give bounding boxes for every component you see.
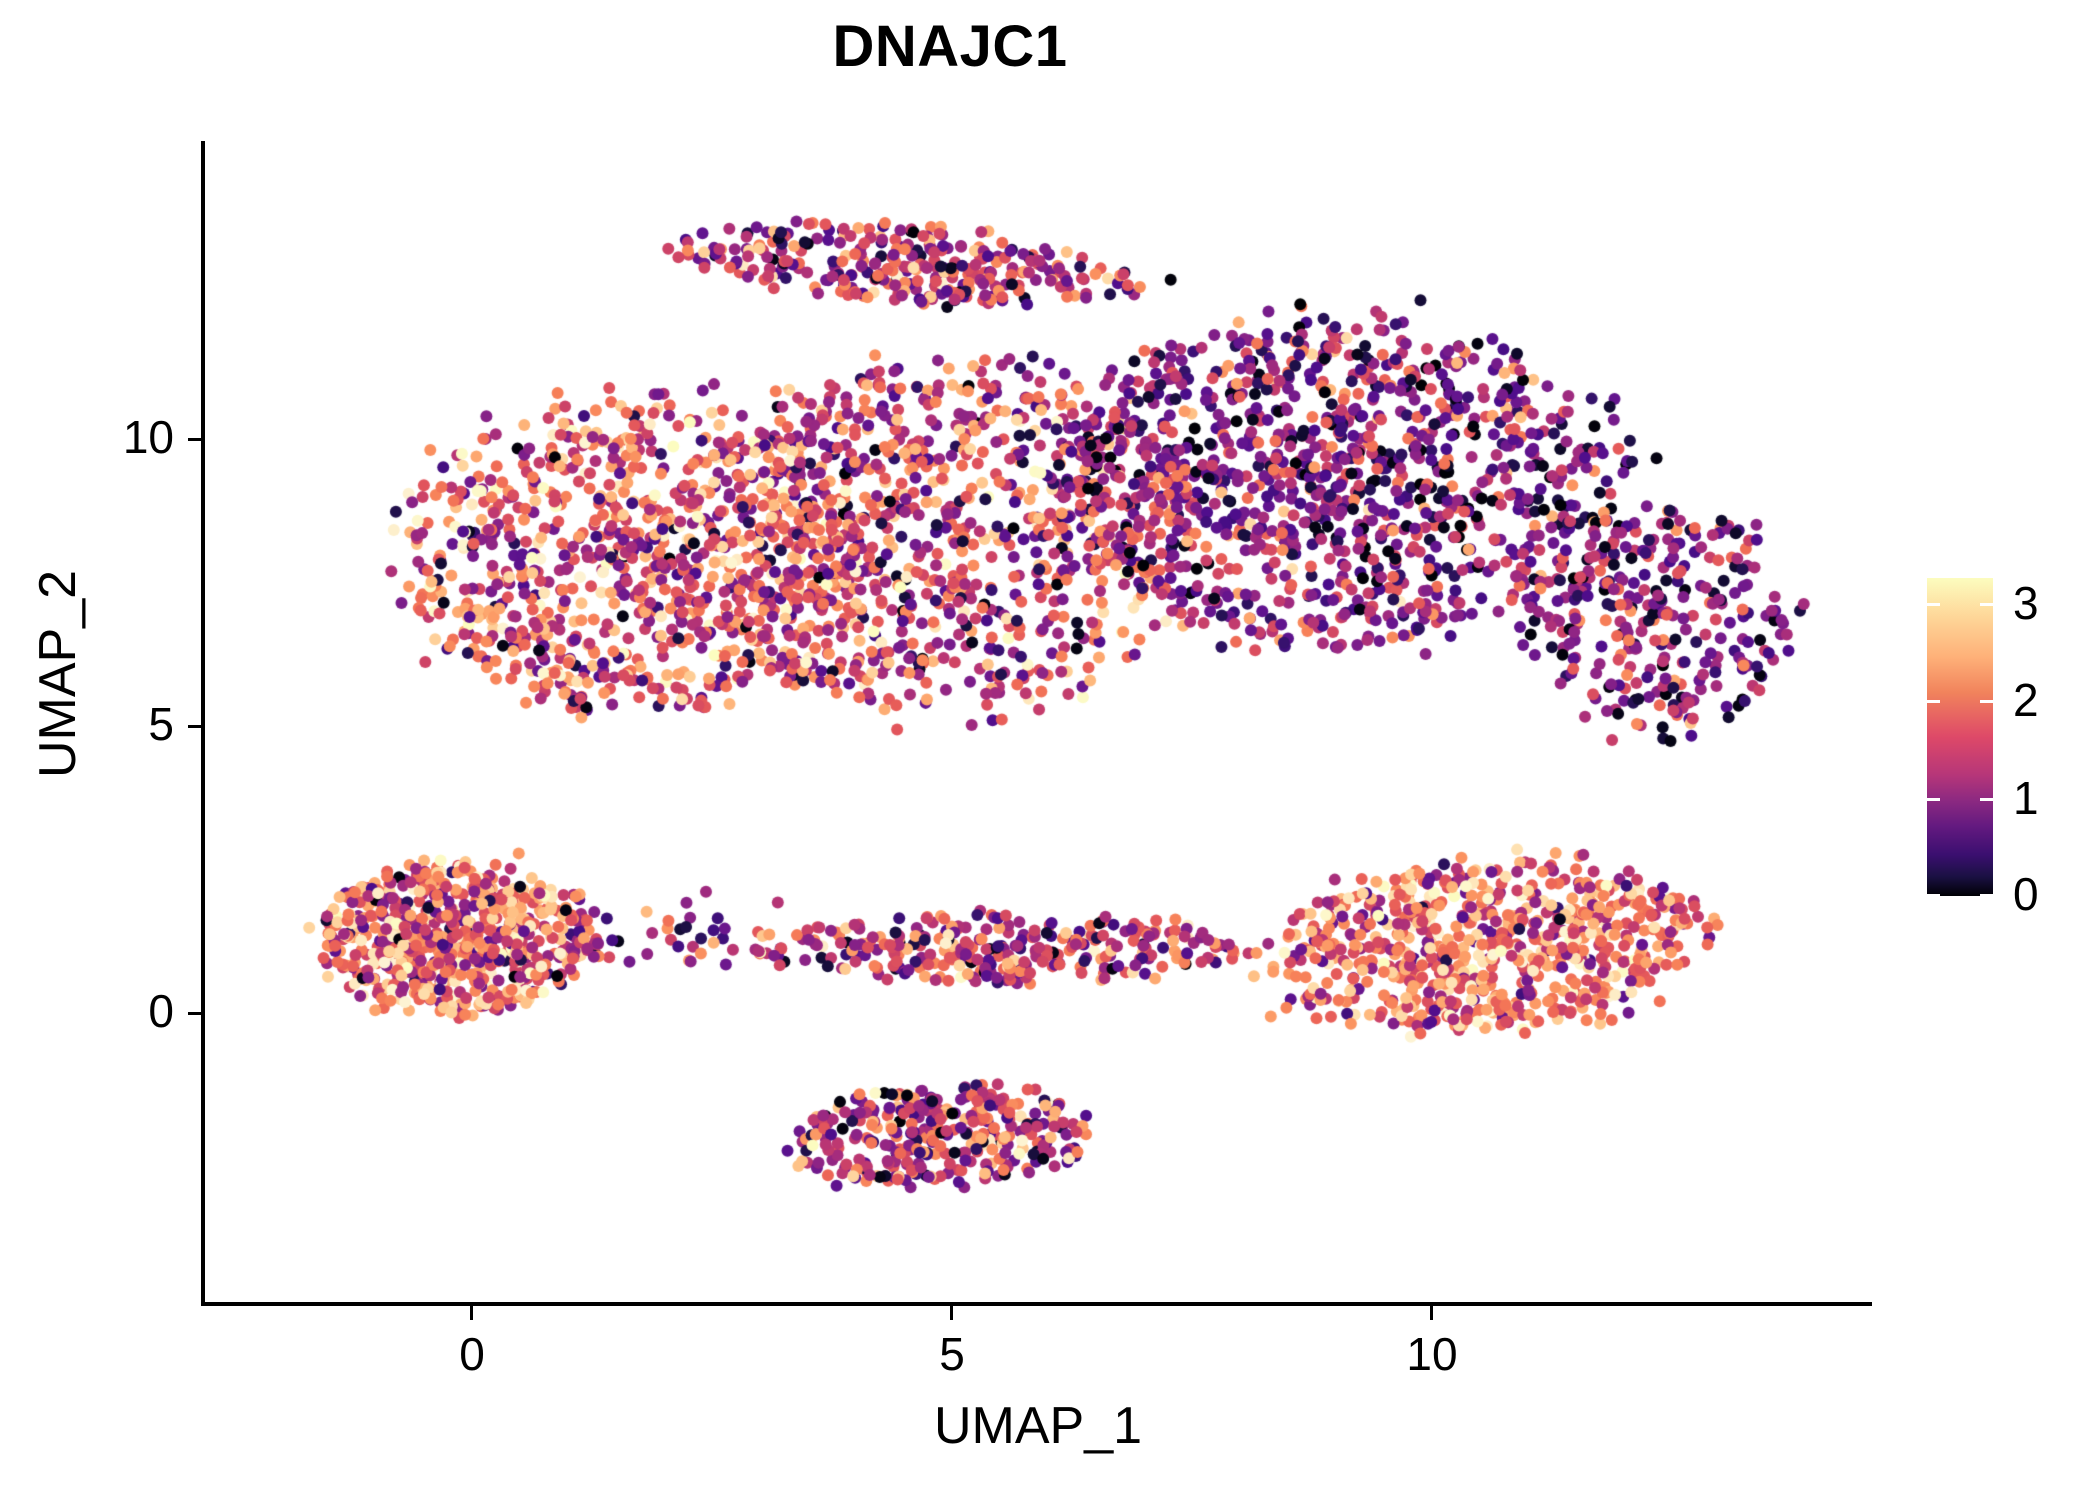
y-tick-mark-5 (188, 725, 202, 728)
y-tick-mark-0 (188, 1012, 202, 1015)
colorbar-label-2: 2 (2013, 677, 2039, 723)
colorbar-tick-1-right (1980, 798, 1993, 801)
colorbar-label-0: 0 (2013, 871, 2039, 917)
colorbar-legend: 3 2 1 0 (1927, 578, 2077, 898)
x-tick-mark-0 (470, 1306, 473, 1320)
colorbar-tick-1-left (1927, 798, 1940, 801)
colorbar-gradient (1927, 578, 1993, 896)
colorbar-tick-3-right (1980, 603, 1993, 606)
colorbar-label-1: 1 (2013, 775, 2039, 821)
colorbar-label-3: 3 (2013, 580, 2039, 626)
y-tick-mark-10 (188, 438, 202, 441)
x-tick-label-10: 10 (1362, 1331, 1502, 1377)
page-title: DNAJC1 (0, 18, 1900, 76)
x-tick-mark-5 (950, 1306, 953, 1320)
scatter-plot-area (204, 141, 1872, 1303)
y-axis-title: UMAP_2 (32, 324, 84, 1024)
x-tick-label-0: 0 (402, 1331, 542, 1377)
x-tick-label-5: 5 (882, 1331, 1022, 1377)
x-axis-title: UMAP_1 (204, 1400, 1872, 1452)
colorbar-tick-3-left (1927, 603, 1940, 606)
figure-root: DNAJC1 10 5 0 0 5 10 UMAP_1 UMAP_2 3 2 1… (0, 0, 2100, 1500)
colorbar-tick-0-left (1927, 894, 1940, 897)
x-tick-mark-10 (1430, 1306, 1433, 1320)
colorbar-tick-2-right (1980, 700, 1993, 703)
colorbar-tick-0-right (1980, 894, 1993, 897)
colorbar-tick-2-left (1927, 700, 1940, 703)
